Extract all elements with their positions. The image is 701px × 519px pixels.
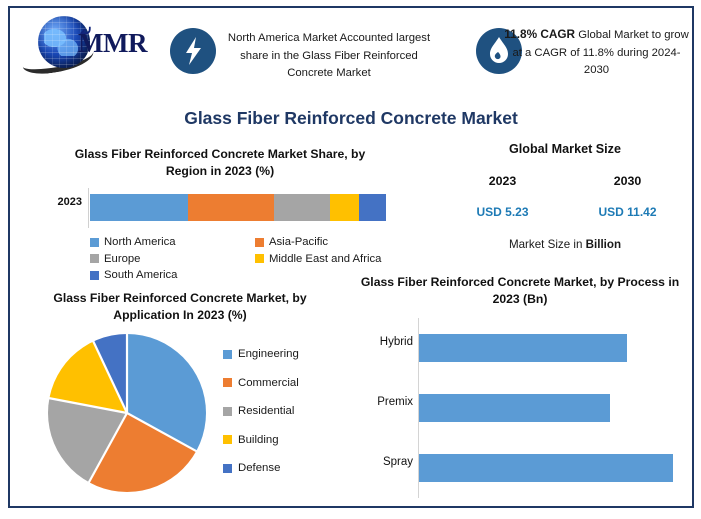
region-legend-label: South America <box>104 269 177 281</box>
year-2023-label: 2023 <box>440 174 565 188</box>
global-market-size-title: Global Market Size <box>440 142 690 156</box>
legend-swatch-icon <box>223 378 232 387</box>
region-segment <box>188 194 274 221</box>
value-2030: USD 11.42 <box>565 205 690 219</box>
process-bar-row: Spray <box>419 438 673 498</box>
global-market-size-values: USD 5.23 USD 11.42 <box>440 205 690 219</box>
legend-swatch-icon <box>223 350 232 359</box>
legend-swatch-icon <box>223 464 232 473</box>
application-legend-item: Residential <box>223 397 343 426</box>
region-legend-item: Europe <box>90 251 255 268</box>
region-chart-axis <box>88 188 89 228</box>
application-pie-separators <box>48 334 206 492</box>
process-category-label: Premix <box>353 396 413 408</box>
process-category-label: Spray <box>353 456 413 468</box>
value-2023: USD 5.23 <box>440 205 565 219</box>
region-chart-title: Glass Fiber Reinforced Concrete Market S… <box>60 146 380 180</box>
company-logo: ⤷ MMR <box>20 12 170 74</box>
legend-swatch-icon <box>255 254 264 263</box>
application-share-chart: Glass Fiber Reinforced Concrete Market, … <box>18 290 348 505</box>
application-chart-legend: EngineeringCommercialResidentialBuilding… <box>223 340 343 483</box>
global-market-size-unit-note: Market Size in Billion <box>440 238 690 251</box>
legend-swatch-icon <box>90 254 99 263</box>
region-share-chart: Glass Fiber Reinforced Concrete Market S… <box>20 146 420 276</box>
application-legend-item: Commercial <box>223 369 343 398</box>
process-chart: Glass Fiber Reinforced Concrete Market, … <box>350 274 690 506</box>
process-bar <box>419 394 610 422</box>
region-legend-label: Asia-Pacific <box>269 236 328 248</box>
application-legend-item: Defense <box>223 454 343 483</box>
header-callout-cagr: 11.8% CAGR Global Market to grow at a CA… <box>504 26 689 80</box>
legend-swatch-icon <box>255 238 264 247</box>
pie-slice-separator <box>88 413 127 483</box>
header: ⤷ MMR North America Market Accounted lar… <box>10 8 692 90</box>
process-chart-title: Glass Fiber Reinforced Concrete Market, … <box>360 274 680 308</box>
region-stacked-bar <box>90 194 386 221</box>
pie-slice-separator <box>48 398 127 413</box>
logo-text: MMR <box>78 28 147 59</box>
application-legend-item: Engineering <box>223 340 343 369</box>
application-chart-title: Glass Fiber Reinforced Concrete Market, … <box>30 290 330 324</box>
region-legend-item: South America <box>90 267 255 284</box>
application-legend-label: Commercial <box>238 377 299 389</box>
pie-slice-separator <box>93 341 127 413</box>
region-segment <box>90 194 188 221</box>
pie-slice-separator <box>127 413 197 452</box>
legend-swatch-icon <box>90 271 99 280</box>
unit-note-unit: Billion <box>586 238 621 251</box>
region-category-label: 2023 <box>26 196 82 208</box>
lightning-bolt-icon <box>170 28 216 74</box>
process-bar-row: Premix <box>419 378 673 438</box>
region-chart-plot <box>88 188 388 228</box>
process-bar <box>419 334 627 362</box>
process-bar-row: Hybrid <box>419 318 673 378</box>
region-legend-label: Middle East and Africa <box>269 253 381 265</box>
global-market-size-panel: Global Market Size 2023 2030 USD 5.23 US… <box>440 142 690 262</box>
global-market-size-years: 2023 2030 <box>440 174 690 188</box>
application-legend-label: Building <box>238 434 279 446</box>
application-legend-item: Building <box>223 426 343 455</box>
region-legend-item: Middle East and Africa <box>255 251 420 268</box>
header-callout-north-america: North America Market Accounted largest s… <box>216 30 442 83</box>
legend-swatch-icon <box>223 435 232 444</box>
cagr-value: 11.8% CAGR <box>504 27 575 41</box>
infographic-frame: ⤷ MMR North America Market Accounted lar… <box>8 6 694 508</box>
region-legend-item: North America <box>90 234 255 251</box>
page-title: Glass Fiber Reinforced Concrete Market <box>10 108 692 129</box>
region-legend-label: Europe <box>104 253 140 265</box>
region-segment <box>330 194 360 221</box>
process-chart-plot: HybridPremixSpray <box>418 318 673 498</box>
process-category-label: Hybrid <box>353 336 413 348</box>
legend-swatch-icon <box>223 407 232 416</box>
application-legend-label: Defense <box>238 462 280 474</box>
application-legend-label: Residential <box>238 405 294 417</box>
region-legend-item: Asia-Pacific <box>255 234 420 251</box>
region-segment <box>274 194 330 221</box>
region-segment <box>359 194 386 221</box>
legend-swatch-icon <box>90 238 99 247</box>
application-legend-label: Engineering <box>238 348 299 360</box>
unit-note-prefix: Market Size in <box>509 238 586 251</box>
year-2030-label: 2030 <box>565 174 690 188</box>
region-legend-label: North America <box>104 236 176 248</box>
process-bar <box>419 454 673 482</box>
